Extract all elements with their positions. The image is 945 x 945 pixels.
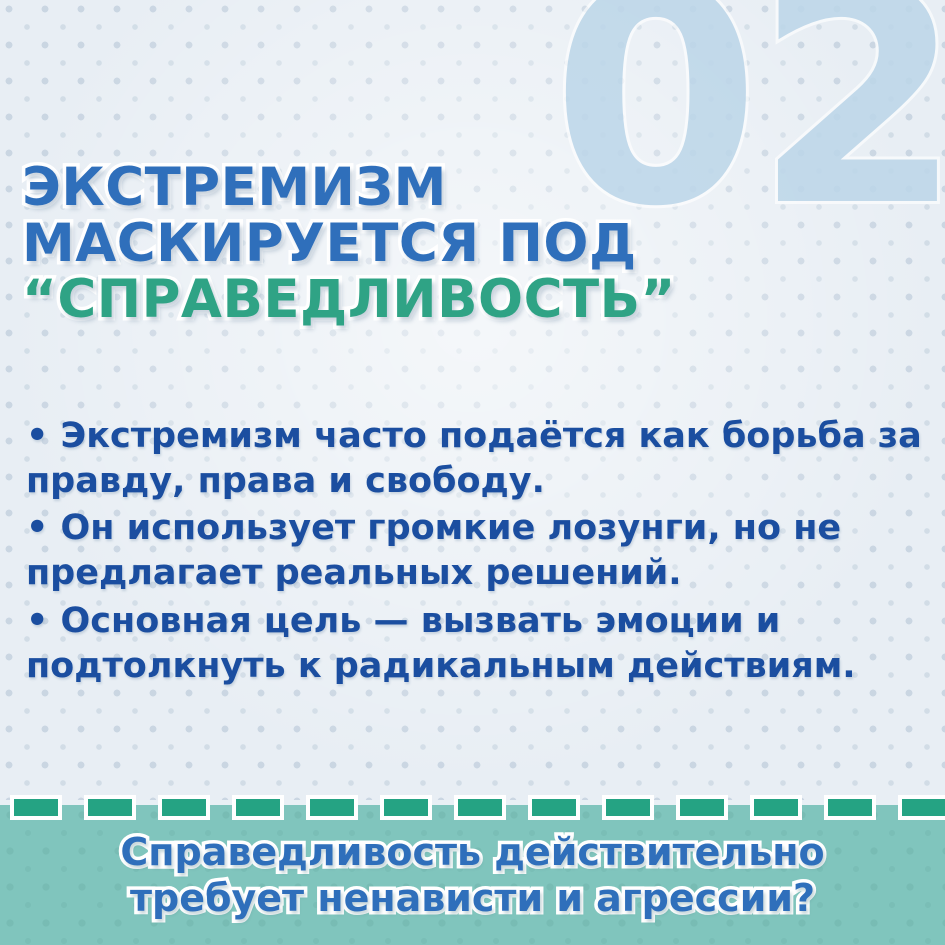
divider-dash	[824, 795, 876, 820]
divider-dash	[676, 795, 728, 820]
divider-dash	[454, 795, 506, 820]
list-item: • Экстремизм часто подаётся как борьба з…	[26, 414, 926, 504]
headline-line-2: МАСКИРУЕТСЯ ПОД	[22, 216, 912, 272]
divider-dash	[602, 795, 654, 820]
list-item: • Основная цель — вызвать эмоции и подто…	[26, 599, 926, 689]
headline-line-3: “СПРАВЕДЛИВОСТЬ”	[22, 272, 912, 328]
bullet-list: • Экстремизм часто подаётся как борьба з…	[26, 414, 926, 691]
divider-dash	[306, 795, 358, 820]
divider-dash	[528, 795, 580, 820]
dashed-divider	[0, 794, 945, 820]
divider-dash	[10, 795, 62, 820]
page-title: ЭКСТРЕМИЗМ МАСКИРУЕТСЯ ПОД “СПРАВЕДЛИВОС…	[22, 160, 912, 329]
banner-line-2: требует ненависти и агрессии?	[130, 875, 815, 921]
divider-dash	[898, 795, 945, 820]
divider-dash	[158, 795, 210, 820]
headline-line-1: ЭКСТРЕМИЗМ	[22, 160, 912, 216]
divider-dash	[380, 795, 432, 820]
divider-dash	[750, 795, 802, 820]
divider-dash	[84, 795, 136, 820]
banner-line-1: Справедливость действительно	[120, 829, 824, 875]
question-banner: Справедливость действительно требует нен…	[0, 805, 945, 945]
list-item: • Он использует громкие лозунги, но не п…	[26, 506, 926, 596]
infographic-poster: 02 ЭКСТРЕМИЗМ МАСКИРУЕТСЯ ПОД “СПРАВЕДЛИ…	[0, 0, 945, 945]
divider-dash	[232, 795, 284, 820]
